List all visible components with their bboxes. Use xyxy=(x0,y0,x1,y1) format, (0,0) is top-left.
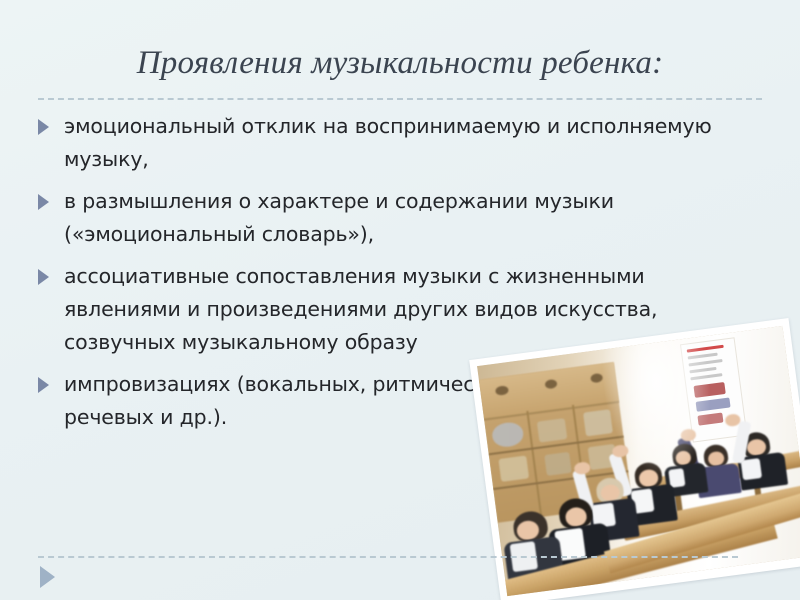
slide-canvas: Проявления музыкальности ребенка: эмоцио… xyxy=(0,0,800,600)
divider-bottom xyxy=(38,556,738,558)
triangle-bullet-icon xyxy=(38,110,64,135)
triangle-marker-icon xyxy=(40,566,55,588)
triangle-bullet-icon xyxy=(38,185,64,210)
triangle-bullet-icon xyxy=(38,368,64,393)
page-title: Проявления музыкальности ребенка: xyxy=(40,42,760,84)
list-item: эмоциональный отклик на воспринимаемую и… xyxy=(38,110,728,176)
divider-top xyxy=(38,98,762,100)
triangle-bullet-icon xyxy=(38,260,64,285)
list-item-label: в размышления о характере и содержании м… xyxy=(64,185,728,251)
list-item-label: эмоциональный отклик на воспринимаемую и… xyxy=(64,110,728,176)
list-item: в размышления о характере и содержании м… xyxy=(38,185,728,251)
